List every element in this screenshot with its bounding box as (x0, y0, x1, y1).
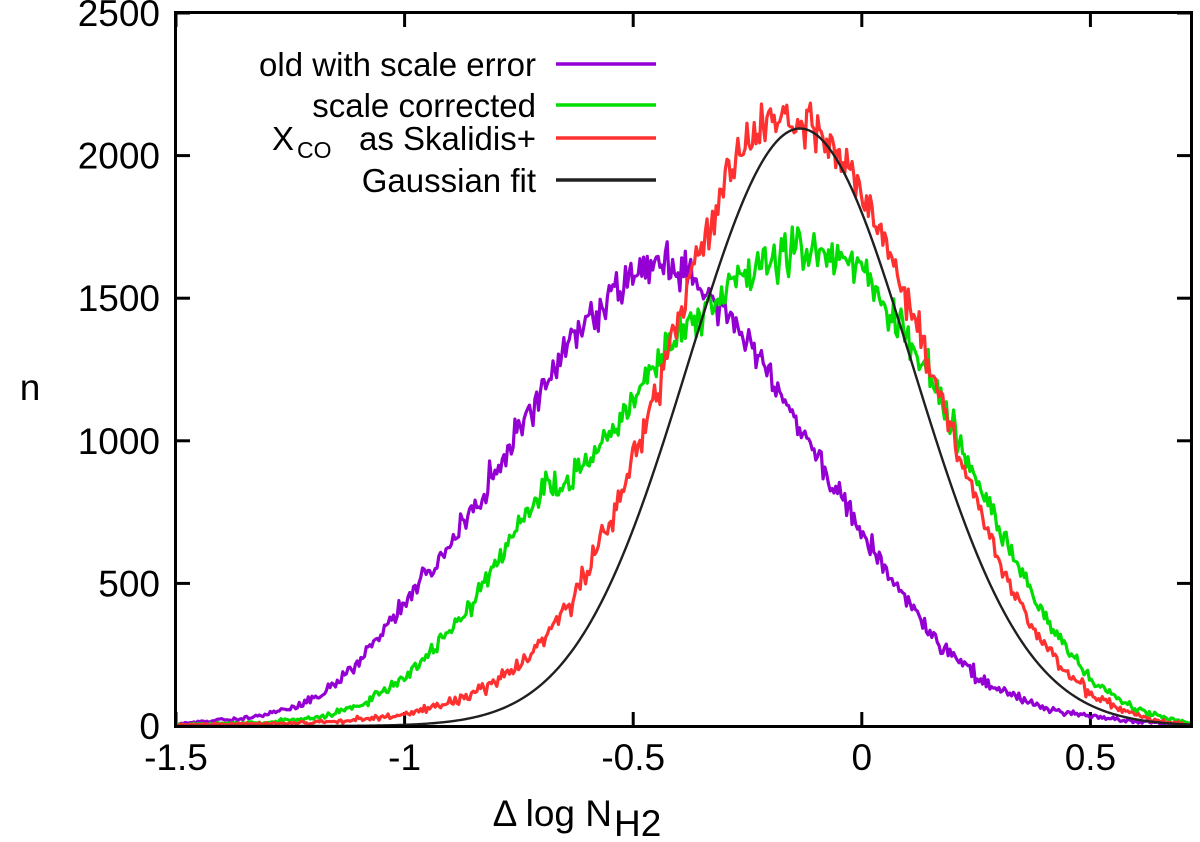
x-tick-label: -1.5 (144, 737, 208, 778)
legend-label-xco-subscript: CO (297, 137, 332, 163)
x-tick-label: -1 (388, 737, 421, 778)
plot-background (0, 0, 1200, 842)
x-tick-label: 0 (852, 737, 873, 778)
y-tick-label: 1000 (78, 421, 160, 462)
chart-figure: 05001000150020002500 -1.5-1-0.500.5 n Δ … (0, 0, 1200, 842)
legend-label-xco-as-skalidis-tail: as Skalidis+ (359, 120, 536, 157)
y-tick-label: 2500 (78, 0, 160, 34)
x-axis-title: Δ log N (493, 793, 612, 834)
histogram-plot: 05001000150020002500 -1.5-1-0.500.5 n Δ … (0, 0, 1200, 842)
y-tick-label: 1500 (78, 278, 160, 319)
y-axis-title: n (20, 367, 41, 408)
legend-label-old-with-scale-error: old with scale error (259, 46, 536, 83)
x-tick-label: -0.5 (601, 737, 665, 778)
y-tick-label: 2000 (78, 136, 160, 177)
x-tick-label: 0.5 (1065, 737, 1116, 778)
legend-label-scale-corrected: scale corrected (312, 87, 536, 124)
x-axis-title-subscript: H2 (614, 803, 661, 842)
y-tick-label: 500 (98, 563, 160, 604)
legend-label-xco-main: X (272, 120, 294, 157)
legend-label-gaussian-fit: Gaussian fit (362, 162, 536, 199)
